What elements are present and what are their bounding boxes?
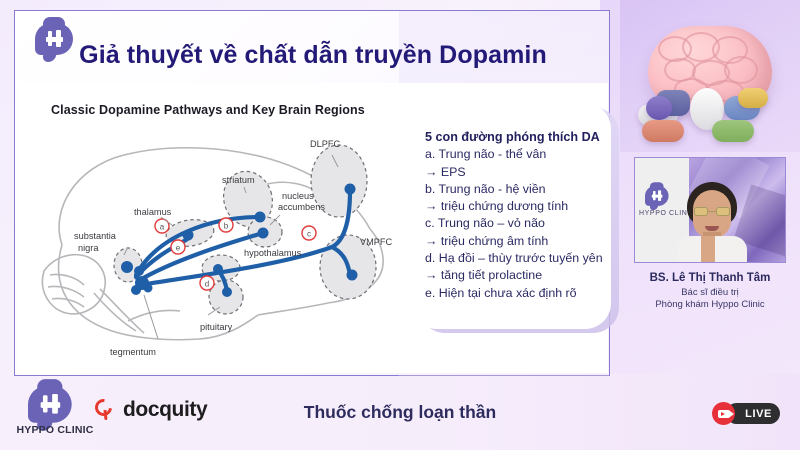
svg-text:hypothalamus: hypothalamus [244, 248, 302, 258]
speaker-portrait [681, 182, 743, 263]
list-item: → triệu chứng dương tính [425, 198, 605, 215]
dopamine-pathway-diagram: a b c e d [32, 125, 432, 365]
pill-orange [642, 120, 684, 142]
page-title: Giả thuyết về chất dẫn truyền Dopamin [15, 41, 611, 70]
speaker-video[interactable]: HYPPO CLINIC [634, 157, 786, 263]
speaker-name: BS. Lê Thị Thanh Tâm [620, 272, 800, 284]
svg-text:substantia: substantia [74, 231, 117, 241]
presentation-slide: Giả thuyết về chất dẫn truyền Dopamin Cl… [14, 10, 610, 376]
brain-pills-image [620, 0, 800, 152]
pathway-list: 5 con đường phóng thích DA a. Trung não … [425, 129, 605, 302]
svg-text:striatum: striatum [222, 175, 255, 185]
svg-text:DLPFC: DLPFC [310, 139, 340, 149]
svg-text:tegmentum: tegmentum [110, 347, 156, 357]
list-item: → tăng tiết prolactine [425, 267, 605, 284]
svg-text:b: b [224, 222, 229, 231]
diagram-card-title: Classic Dopamine Pathways and Key Brain … [51, 103, 365, 117]
brain-diagram-svg: a b c e d [32, 125, 432, 365]
svg-text:e: e [176, 244, 181, 253]
pill-purple [646, 96, 672, 120]
footer-hyppo-label: HYPPO CLINIC [16, 424, 94, 436]
list-item: d. Hạ đồi – thùy trước tuyến yên [425, 250, 605, 267]
svg-text:VMPFC: VMPFC [360, 237, 393, 247]
speaker-organization: Phòng khám Hyppo Clinic [620, 299, 800, 310]
backdrop-hyppo-bubble-icon [645, 186, 669, 206]
speaker-role: Bác sĩ điều trị [620, 287, 800, 298]
svg-text:nigra: nigra [78, 243, 99, 253]
list-heading: 5 con đường phóng thích DA [425, 129, 605, 146]
list-item: b. Trung não - hệ viền [425, 181, 605, 198]
footer-topic-title: Thuốc chống loạn thần [0, 402, 800, 423]
svg-text:thalamus: thalamus [134, 207, 172, 217]
svg-text:a: a [160, 223, 165, 232]
glasses-icon [694, 207, 730, 216]
pill-yellow [738, 88, 768, 108]
screen-root: Giả thuyết về chất dẫn truyền Dopamin Cl… [0, 0, 800, 450]
footer-bar: HYPPO CLINIC docquity Thuốc chống loạn t… [0, 378, 800, 450]
svg-text:d: d [205, 280, 209, 289]
list-item: → EPS [425, 164, 605, 181]
list-item: → triệu chứng âm tính [425, 233, 605, 250]
list-item: a. Trung não - thể vân [425, 146, 605, 163]
svg-text:c: c [307, 230, 311, 239]
svg-text:nucleus: nucleus [282, 191, 314, 201]
list-item: c. Trung não – vỏ não [425, 215, 605, 232]
svg-text:pituitary: pituitary [200, 322, 233, 332]
live-label: LIVE [745, 408, 772, 420]
svg-text:accumbens: accumbens [278, 202, 325, 212]
pill-green [712, 120, 754, 142]
hyppo-bubble-icon [35, 23, 73, 55]
pathway-list-callout: 5 con đường phóng thích DA a. Trung não … [411, 103, 611, 329]
list-item: e. Hiện tại chưa xác định rõ [425, 285, 605, 302]
live-camera-icon [712, 402, 735, 425]
brain-regions [114, 145, 376, 314]
